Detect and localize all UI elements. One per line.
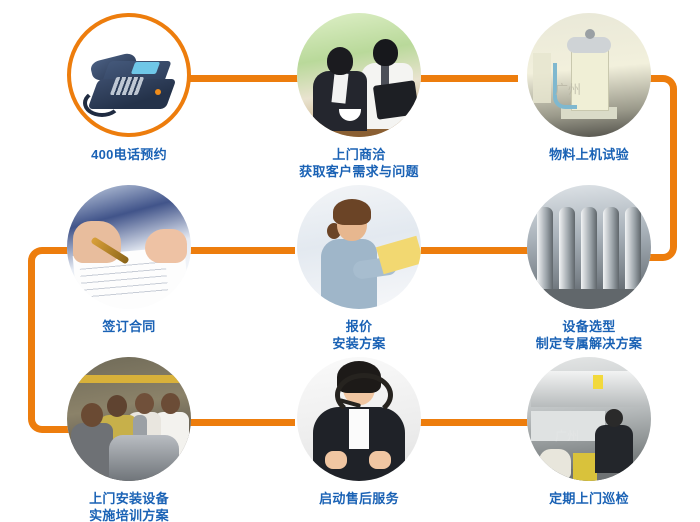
inspect-watermark: 广州: [555, 427, 579, 444]
machine-watermark: 广州: [555, 79, 581, 98]
service-process-flow-diagram: 400电话预约 上门商洽 获取客户需求与问题: [0, 0, 700, 522]
flow-node-label-step-4: 签订合同: [44, 318, 214, 335]
flow-node-label-step-7: 上门安装设备 实施培训方案: [44, 490, 214, 522]
installation-photo: [67, 357, 191, 481]
customer-service-photo: [297, 357, 421, 481]
inspection-photo: 广州: [527, 357, 651, 481]
equipment-selection-photo: [527, 185, 651, 309]
quotation-photo: [297, 185, 421, 309]
flow-node-label-step-6: 设备选型 制定专属解决方案: [504, 318, 674, 352]
headset-icon: [335, 373, 393, 417]
flow-node-step-7[interactable]: 上门安装设备 实施培训方案: [44, 357, 214, 522]
flow-node-step-8[interactable]: 启动售后服务: [274, 357, 444, 507]
flow-node-label-step-2: 上门商洽 获取客户需求与问题: [274, 146, 444, 180]
flow-node-step-9[interactable]: 广州 定期上门巡检: [504, 357, 674, 507]
business-meeting-photo: [297, 13, 421, 137]
flow-node-step-3[interactable]: 广州 物料上机试验: [504, 13, 674, 163]
machine-test-photo: 广州: [527, 13, 651, 137]
flow-node-label-step-1: 400电话预约: [44, 146, 214, 163]
telephone-icon: [67, 13, 191, 137]
flow-node-step-5[interactable]: 报价 安装方案: [274, 185, 444, 352]
flow-node-label-step-8: 启动售后服务: [274, 490, 444, 507]
flow-node-step-4[interactable]: 签订合同: [44, 185, 214, 335]
flow-node-step-2[interactable]: 上门商洽 获取客户需求与问题: [274, 13, 444, 180]
contract-signing-photo: [67, 185, 191, 309]
flow-node-label-step-5: 报价 安装方案: [274, 318, 444, 352]
flow-node-step-6[interactable]: 设备选型 制定专属解决方案: [504, 185, 674, 352]
flow-node-label-step-3: 物料上机试验: [504, 146, 674, 163]
flow-node-label-step-9: 定期上门巡检: [504, 490, 674, 507]
flow-node-step-1[interactable]: 400电话预约: [44, 13, 214, 163]
